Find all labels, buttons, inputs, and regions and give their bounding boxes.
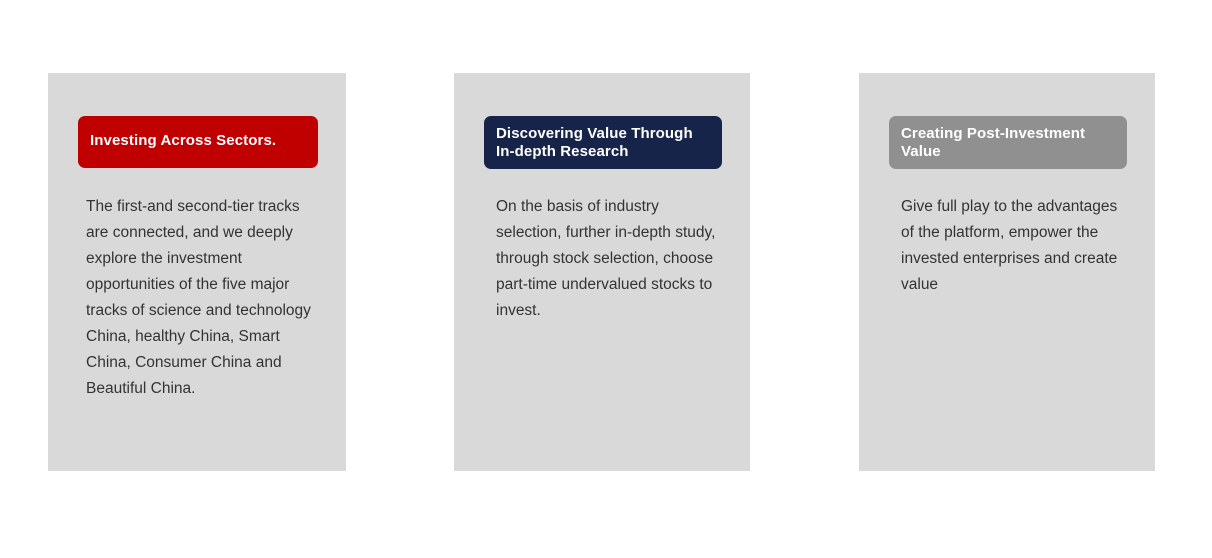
card-title-discovering-value: Discovering Value Through In-depth Resea…: [496, 125, 710, 161]
card-badge-creating-post-investment-value: Creating Post-Investment Value: [889, 116, 1127, 169]
card-investing-across-sectors: Investing Across Sectors. The first-and …: [48, 73, 346, 471]
card-title-creating-post-investment-value: Creating Post-Investment Value: [901, 125, 1115, 161]
card-discovering-value: Discovering Value Through In-depth Resea…: [454, 73, 750, 471]
card-body-discovering-value: On the basis of industry selection, furt…: [496, 194, 726, 324]
card-body-investing-across-sectors: The first-and second-tier tracks are con…: [86, 194, 324, 402]
card-badge-discovering-value: Discovering Value Through In-depth Resea…: [484, 116, 722, 169]
card-creating-post-investment-value: Creating Post-Investment Value Give full…: [859, 73, 1155, 471]
card-badge-investing-across-sectors: Investing Across Sectors.: [78, 116, 318, 168]
card-body-creating-post-investment-value: Give full play to the advantages of the …: [901, 194, 1131, 298]
cards-board: Investing Across Sectors. The first-and …: [0, 0, 1212, 558]
card-title-investing-across-sectors: Investing Across Sectors.: [90, 125, 306, 150]
